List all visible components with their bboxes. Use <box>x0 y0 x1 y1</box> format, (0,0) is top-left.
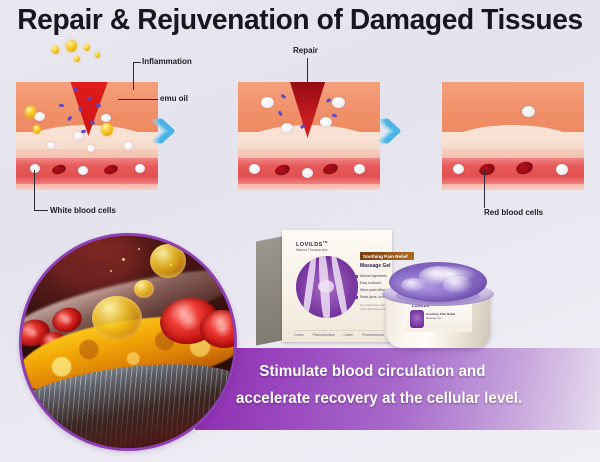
bacteria-icon <box>58 103 63 106</box>
knee-joint <box>318 280 334 293</box>
emu-oil-droplet <box>74 56 80 62</box>
knee-illustration <box>296 256 358 318</box>
white-blood-cell <box>320 117 332 127</box>
blood-vessel-microscopy <box>22 236 234 448</box>
white-blood-cell <box>522 106 535 117</box>
repair-leader-vertical <box>307 58 308 90</box>
oil-sparkle <box>110 270 112 272</box>
subcutaneous-layer <box>442 184 584 190</box>
product-brand: LOVILDSTM <box>296 240 328 248</box>
label-red-blood-cells: Red blood cells <box>484 208 543 217</box>
bullet-marker <box>355 296 358 299</box>
gel-swirl <box>443 276 473 294</box>
white-blood-cell <box>74 132 83 140</box>
page-title: Repair & Rejuvenation of Damaged Tissues <box>9 4 591 37</box>
wbc-leader-vertical <box>34 170 35 210</box>
bullet-marker <box>355 282 358 285</box>
emu-oil-droplet <box>66 40 77 52</box>
oil-sparkle <box>138 248 140 250</box>
white-blood-cell <box>556 164 568 175</box>
jar-gel-content <box>389 262 487 302</box>
oil-droplet <box>150 244 186 278</box>
footer-item: Cream <box>294 333 304 337</box>
footer-item: Pharmaceutical <box>362 333 384 337</box>
emu-oil-droplet <box>52 46 59 54</box>
trademark-symbol: TM <box>323 240 328 244</box>
inflammation-leader-horizontal <box>133 62 141 63</box>
product-box-side <box>256 236 284 345</box>
banner-line-2: accelerate recovery at the cellular leve… <box>236 390 522 408</box>
oil-droplet <box>134 280 154 298</box>
infographic-root: Repair & Rejuvenation of Damaged Tissues <box>0 0 600 462</box>
promo-banner: Stimulate blood circulation and accelera… <box>195 348 600 430</box>
product-box: LOVILDSTM Natural Therapeutics Soothing … <box>256 230 396 348</box>
white-blood-cell <box>332 97 345 108</box>
product-bullet: Easy to absorb <box>360 281 381 285</box>
stage-panel-healed <box>442 82 584 190</box>
footer-item: Pharmaceutical <box>313 333 335 337</box>
subcutaneous-layer <box>238 184 380 190</box>
product-brand-subtitle: Natural Therapeutics <box>296 248 327 252</box>
emu-oil-droplet <box>25 106 36 118</box>
product-box-front: LOVILDSTM Natural Therapeutics Soothing … <box>282 230 392 342</box>
white-blood-cell <box>261 97 274 108</box>
wbc-leader-horizontal <box>34 210 48 211</box>
rbc-leader-vertical <box>484 170 485 208</box>
knee-stripe <box>301 256 318 318</box>
bacteria-icon <box>95 103 100 107</box>
banner-line-1: Stimulate blood circulation and <box>259 363 485 381</box>
label-inflammation: Inflammation <box>142 57 192 66</box>
emu-oil-droplet <box>84 44 90 51</box>
stage-panel-repair <box>238 82 380 190</box>
jar-knee-illustration <box>410 310 424 328</box>
bullet-marker <box>355 275 358 278</box>
oil-sparkle <box>122 258 125 261</box>
emu-oil-droplet <box>95 52 100 58</box>
white-blood-cell <box>281 123 293 133</box>
jar-product-sub: Massage Gel <box>426 317 441 320</box>
oil-droplet <box>92 296 142 340</box>
jar-product-name: Soothing Pain Relief <box>426 312 455 316</box>
bullet-marker <box>355 289 358 292</box>
subcutaneous-layer <box>16 184 158 190</box>
oil-sparkle <box>170 264 172 266</box>
label-emu-oil: emu oil <box>160 94 188 103</box>
white-blood-cell <box>87 145 95 152</box>
product-jar: LOVILDS Soothing Pain Relief Massage Gel <box>382 258 494 350</box>
inflammation-leader-vertical <box>133 62 134 90</box>
label-white-blood-cells: White blood cells <box>50 206 116 215</box>
gel-swirl <box>401 278 427 292</box>
footer-item: Cream <box>343 333 353 337</box>
emu-oil-leader <box>118 99 158 100</box>
product-box-footer: Cream Pharmaceutical Cream Pharmaceutica… <box>294 330 384 337</box>
label-repair: Repair <box>293 46 318 55</box>
